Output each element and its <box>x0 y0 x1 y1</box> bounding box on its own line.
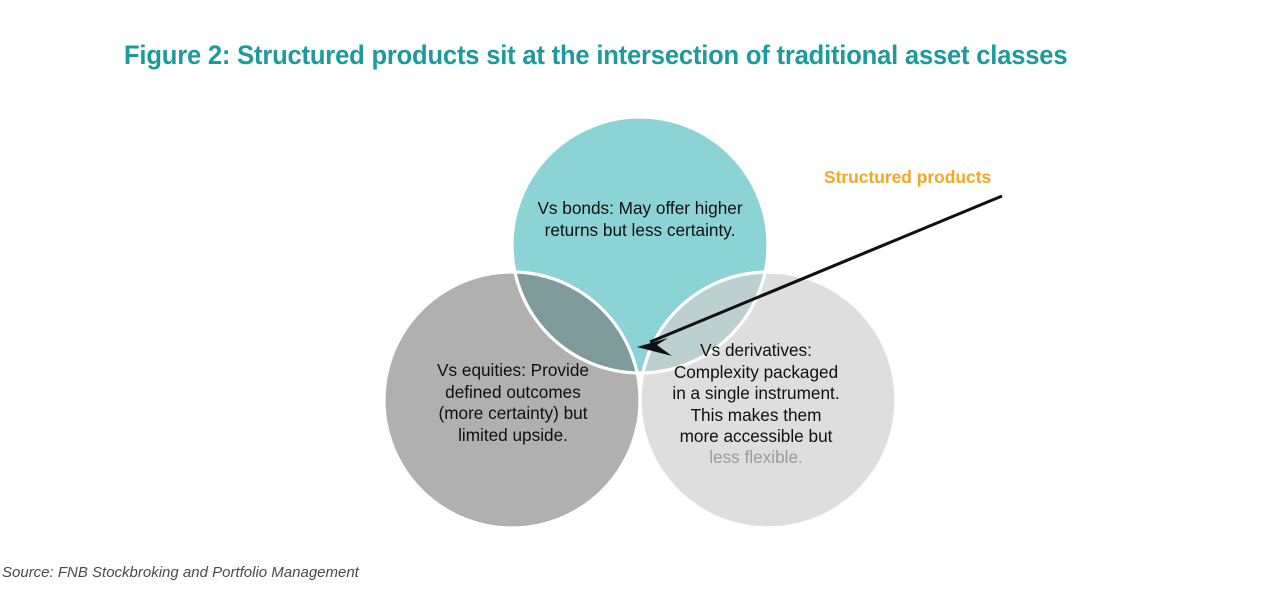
source-note: Source: FNB Stockbroking and Portfolio M… <box>2 564 359 581</box>
venn-label-equities: Vs equities: Provide defined outcomes (m… <box>415 360 611 446</box>
callout-label-structured-products: Structured products <box>824 167 991 188</box>
venn-label-derivatives: Vs derivatives: Complexity packaged in a… <box>652 340 860 448</box>
venn-label-derivatives-tail: less flexible. <box>652 447 860 469</box>
venn-label-bonds: Vs bonds: May offer higher returns but l… <box>500 198 780 241</box>
venn-svg <box>0 0 1280 604</box>
figure-root: Figure 2: Structured products sit at the… <box>0 0 1280 604</box>
venn-diagram: Vs bonds: May offer higher returns but l… <box>0 0 1280 604</box>
